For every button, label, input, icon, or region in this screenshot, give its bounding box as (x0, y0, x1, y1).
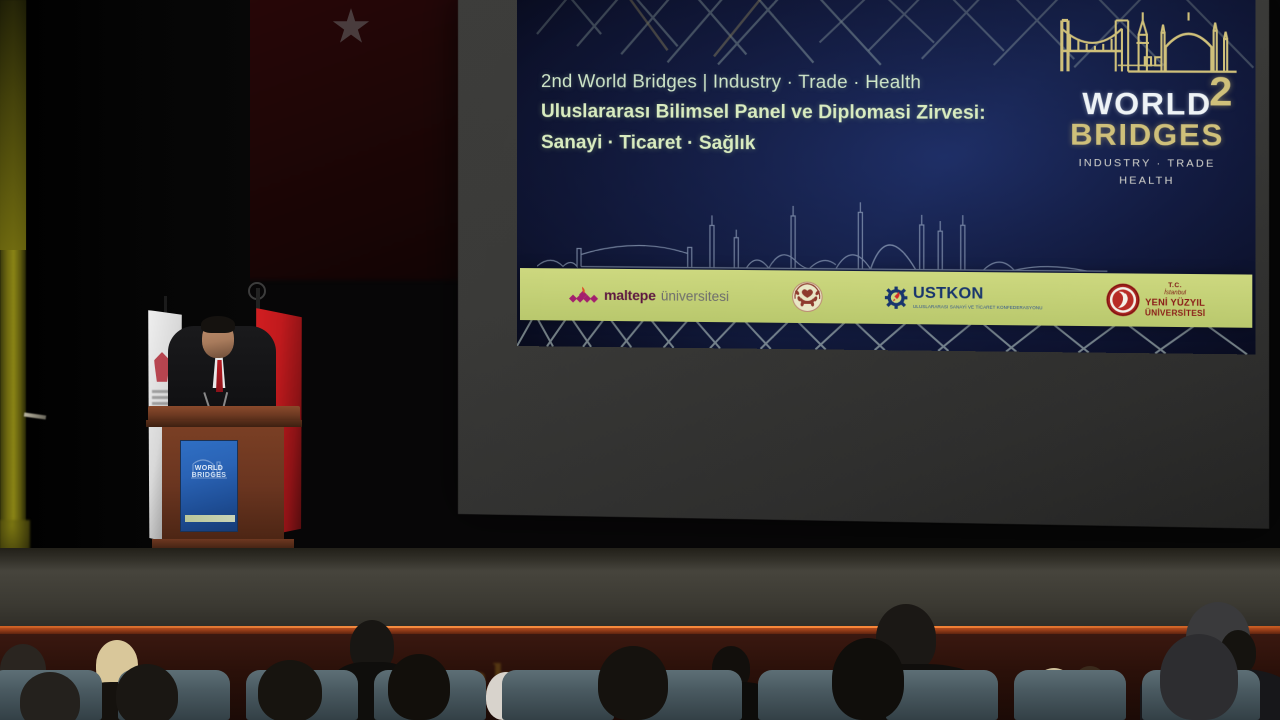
yeni-yuzyil-seal-icon (1106, 283, 1139, 316)
audience-seat (1014, 670, 1126, 720)
sponsor-yeni-yuzyil-universitesi: T.C. İstanbul YENİ YÜZYIL ÜNİVERSİTESİ (1106, 282, 1205, 319)
slide-english-title: 2nd World Bridges | Industry · Trade · H… (541, 70, 1029, 94)
audience-head (598, 646, 668, 720)
sponsor-ustkon: USTKON ULUSLARARASI SANAYİ VE TİCARET KO… (885, 286, 1042, 311)
yeni-yuzyil-sublabel: ÜNİVERSİTESİ (1145, 308, 1205, 318)
yeni-yuzyil-text-block: T.C. İstanbul YENİ YÜZYIL ÜNİVERSİTESİ (1145, 282, 1205, 319)
speaker-hair (201, 316, 235, 333)
sponsor-maltepe-universitesi: maltepe üniversitesi (565, 285, 729, 305)
world-bridges-wordmark: WORLD 2 (1058, 86, 1237, 121)
stage-edge-highlight (0, 626, 1280, 628)
ustkon-text-block: USTKON ULUSLARARASI SANAYİ VE TİCARET KO… (913, 286, 1043, 311)
podium-front-lip (146, 420, 302, 427)
logo-word-bridges: BRIDGES (1058, 118, 1237, 154)
podium-panel-logo: WORLD BRIDGES (187, 465, 231, 479)
logo-tagline-line2: HEALTH (1058, 173, 1237, 189)
conference-photo-scene: 2nd World Bridges | Industry · Trade · H… (0, 0, 1280, 720)
ustkon-sublabel: ULUSLARARASI SANAYİ VE TİCARET KONFEDERA… (913, 304, 1043, 311)
ustkon-label: USTKON (913, 286, 1043, 303)
audience-head (832, 638, 904, 720)
audience-head (258, 660, 322, 720)
yeni-yuzyil-seal-svg (1106, 283, 1139, 316)
audience-head (388, 654, 450, 720)
wreath-svg (792, 282, 823, 313)
sponsor-health-wreath (792, 282, 823, 313)
sponsor-logo-bar: maltepe üniversitesi (520, 268, 1252, 328)
wreath-emblem-icon (792, 282, 823, 313)
slide-title-block: 2nd World Bridges | Industry · Trade · H… (541, 70, 1029, 157)
maltepe-diamond-svg (565, 285, 599, 305)
maltepe-label-light: üniversitesi (661, 288, 729, 304)
skyline-lineart-svg (537, 192, 1107, 277)
podium-panel-sponsor-strip (185, 515, 235, 522)
podium-logo-word-top: WORLD (187, 465, 231, 472)
left-curtain-upper (0, 0, 26, 250)
world-bridges-logo: WORLD 2 BRIDGES INDUSTRY · TRADE HEALTH (1058, 0, 1237, 189)
slide-turkish-title-2: Sanayi · Ticaret · Sağlık (541, 132, 1029, 157)
podium-and-speaker-group: WORLD BRIDGES (120, 280, 450, 570)
logo-tagline-line1: INDUSTRY · TRADE (1058, 156, 1237, 171)
logo-word-world: WORLD (1082, 86, 1212, 122)
maltepe-label-bold: maltepe (604, 287, 656, 304)
maltepe-mark-icon (565, 285, 599, 303)
podium-logo-word-bottom: BRIDGES (187, 472, 231, 479)
ustkon-gear-icon (885, 286, 908, 308)
gear-rocket-svg (885, 286, 908, 308)
stage-floor-shadow (0, 548, 1280, 570)
logo-numeral-2: 2 (1209, 70, 1232, 116)
slide-skyline-lineart (537, 192, 1107, 277)
projected-slide: 2nd World Bridges | Industry · Trade · H… (517, 0, 1255, 354)
yeni-yuzyil-label: YENİ YÜZYIL (1145, 297, 1205, 309)
audience-seat (502, 670, 614, 720)
audience-head (116, 664, 178, 720)
podium-branding-panel: WORLD BRIDGES (180, 440, 238, 532)
audience-head (1160, 634, 1238, 720)
slide-turkish-title-1: Uluslararası Bilimsel Panel ve Diplomasi… (541, 101, 1029, 125)
